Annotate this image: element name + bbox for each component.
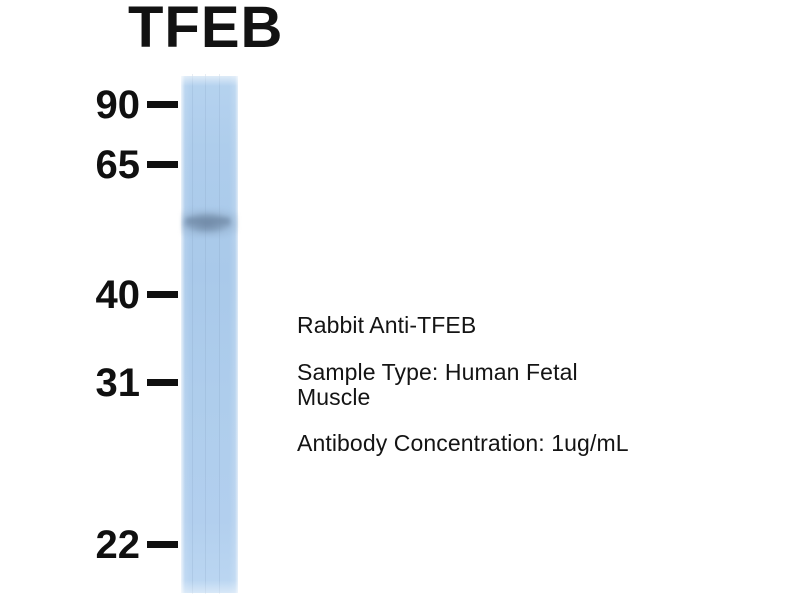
annotation-line: Sample Type: Human Fetal	[297, 360, 749, 385]
annotation-line: Rabbit Anti-TFEB	[297, 313, 749, 338]
lane-streak	[205, 74, 206, 594]
annotation-sample-type: Sample Type: Human Fetal Muscle	[297, 360, 749, 410]
ladder-marker-label: 31	[96, 363, 141, 403]
ladder-marker-40: 40	[40, 272, 178, 318]
ladder-dash-icon	[147, 161, 178, 168]
annotation-line: Antibody Concentration: 1ug/mL	[297, 431, 749, 456]
annotation-antibody: Rabbit Anti-TFEB	[297, 313, 749, 338]
western-blot-figure: TFEB 90 65 40 31 22 Rabbit Anti-TFEB	[0, 0, 800, 600]
protein-band	[186, 216, 230, 227]
ladder-marker-31: 31	[40, 360, 178, 406]
ladder-dash-icon	[147, 379, 178, 386]
ladder-marker-90: 90	[40, 82, 178, 128]
blot-lane	[178, 74, 240, 594]
annotation-block: Rabbit Anti-TFEB Sample Type: Human Feta…	[297, 313, 749, 456]
annotation-concentration: Antibody Concentration: 1ug/mL	[297, 431, 749, 456]
lane-bottom-fade	[181, 580, 238, 594]
ladder-marker-label: 22	[96, 525, 141, 565]
page-title: TFEB	[128, 0, 283, 59]
ladder-marker-label: 40	[96, 275, 141, 315]
lane-streak	[219, 74, 220, 594]
membrane-background	[181, 76, 238, 593]
ladder-marker-label: 90	[96, 85, 141, 125]
ladder-dash-icon	[147, 101, 178, 108]
ladder-dash-icon	[147, 541, 178, 548]
lane-top-fade	[181, 76, 238, 86]
lane-streak	[192, 74, 193, 594]
annotation-line: Muscle	[297, 385, 749, 410]
ladder-marker-label: 65	[96, 145, 141, 185]
ladder-marker-65: 65	[40, 142, 178, 188]
ladder-marker-22: 22	[40, 522, 178, 568]
ladder-dash-icon	[147, 291, 178, 298]
